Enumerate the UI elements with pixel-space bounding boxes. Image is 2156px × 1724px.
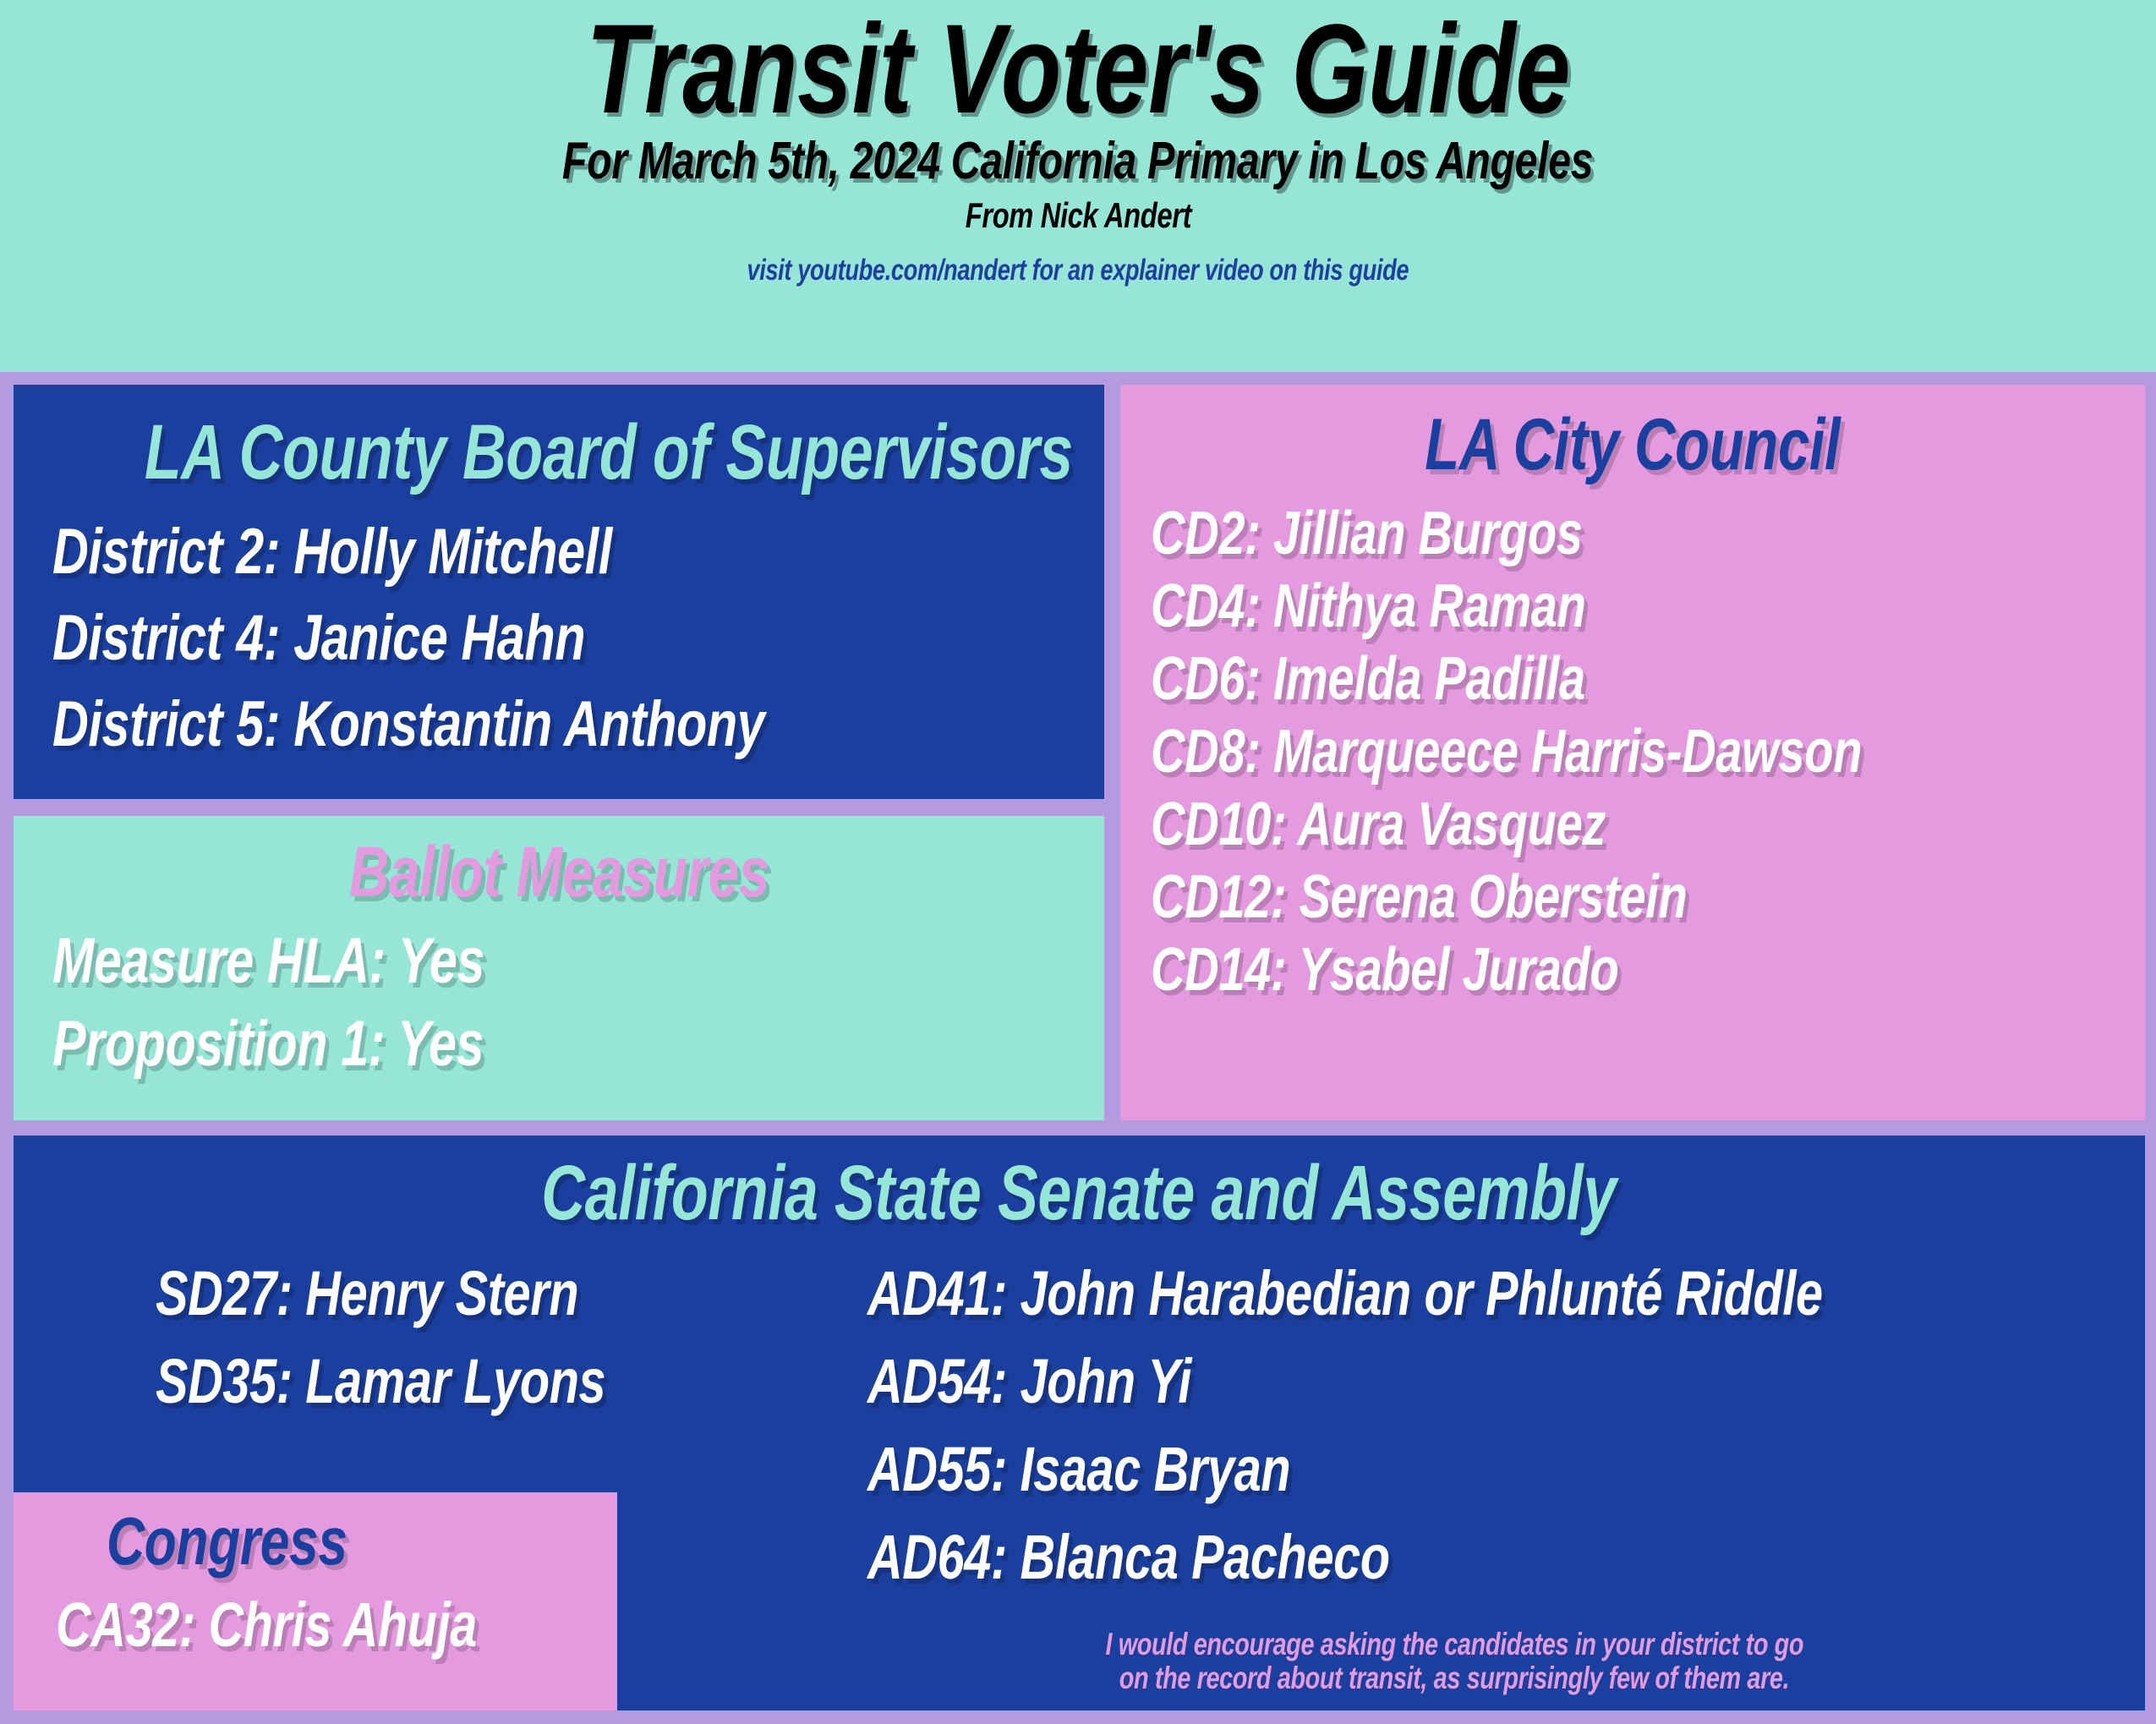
congress-list: CA32: Chris Ahuja [14,1575,617,1656]
page-subtitle-text: For March 5th, 2024 California Primary i… [562,135,1593,188]
supervisors-row-0: District 2: Holly Mitchell [52,520,612,584]
assembly-row-3: AD64: Blanca Pacheco [867,1526,1390,1589]
transit-note-line-1: I would encourage asking the candidates … [905,1628,2004,1661]
header-banner: Transit Voter's Guide For March 5th, 202… [0,0,2156,372]
voter-guide-infographic: Transit Voter's Guide For March 5th, 202… [0,0,2156,1724]
list-item: District 5: Konstantin Anthony [52,692,1104,757]
state-heading: California State Senate and Assembly [14,1136,2145,1232]
state-heading-text: California State Senate and Assembly [542,1154,1617,1232]
youtube-link[interactable]: visit youtube.com/nandert for an explain… [0,255,2156,285]
supervisors-heading: LA County Board of Supervisors [14,385,1104,491]
state-assembly-list: AD41: John Harabedian or Phlunté Riddle … [867,1262,2092,1614]
assembly-row-1: AD54: John Yi [867,1350,1191,1413]
list-item: AD41: John Harabedian or Phlunté Riddle [867,1262,2092,1325]
youtube-link-text: visit youtube.com/nandert for an explain… [747,255,1409,285]
ballot-measures-list: Measure HLA: Yes Proposition 1: Yes [14,907,1104,1076]
supervisors-row-2: District 5: Konstantin Anthony [52,692,764,757]
ballot-measures-heading: Ballot Measures [14,816,1104,907]
page-title: Transit Voter's Guide [0,5,2156,132]
assembly-row-0: AD41: John Harabedian or Phlunté Riddle [867,1262,1823,1325]
list-item: AD64: Blanca Pacheco [867,1526,2092,1589]
city-council-heading-text: LA City Council [1425,408,1840,481]
transit-note-line-1-text: I would encourage asking the candidates … [1105,1628,1803,1661]
list-item: District 2: Holly Mitchell [52,520,1104,584]
congress-heading: Congress [14,1492,617,1575]
city-council-list: CD2: Jillian Burgos CD4: Nithya Raman CD… [1120,481,2145,1000]
city-council-heading: LA City Council [1120,385,2145,481]
transit-note-line-2: on the record about transit, as surprisi… [905,1661,2004,1695]
supervisors-list: District 2: Holly Mitchell District 4: J… [14,491,1104,757]
council-row-4: CD10: Aura Vasquez [1151,794,1606,855]
ballot-measures-heading-text: Ballot Measures [349,836,769,907]
list-item: Proposition 1: Yes [52,1012,1104,1076]
list-item: CD10: Aura Vasquez [1151,794,2145,855]
list-item: SD27: Henry Stern [156,1262,732,1325]
list-item: AD55: Isaac Bryan [867,1438,2092,1501]
list-item: CD8: Marqueece Harris-Dawson [1151,721,2145,782]
transit-note-line-2-text: on the record about transit, as surprisi… [1119,1661,1789,1695]
author-byline: From Nick Andert [0,198,2156,233]
list-item: CD14: Ysabel Jurado [1151,939,2145,1000]
ballot-row-1: Proposition 1: Yes [52,1012,484,1076]
ballot-row-0: Measure HLA: Yes [52,929,484,993]
list-item: AD54: John Yi [867,1350,2092,1413]
list-item: CD2: Jillian Burgos [1151,503,2145,564]
list-item: Measure HLA: Yes [52,929,1104,993]
senate-row-1: SD35: Lamar Lyons [156,1350,605,1413]
congress-heading-text: Congress [107,1508,347,1575]
supervisors-heading-text: LA County Board of Supervisors [145,413,1073,491]
list-item: SD35: Lamar Lyons [156,1350,732,1413]
senate-row-0: SD27: Henry Stern [156,1262,578,1325]
council-row-2: CD6: Imelda Padilla [1151,649,1585,709]
list-item: CD4: Nithya Raman [1151,576,2145,637]
section-congress: Congress CA32: Chris Ahuja [14,1492,617,1710]
council-row-6: CD14: Ysabel Jurado [1151,939,1618,1000]
congress-row-0: CA32: Chris Ahuja [56,1594,477,1656]
author-byline-text: From Nick Andert [965,198,1190,233]
state-senate-list: SD27: Henry Stern SD35: Lamar Lyons [156,1262,732,1438]
supervisors-row-1: District 4: Janice Hahn [52,606,585,670]
list-item: CD12: Serena Oberstein [1151,867,2145,928]
list-item: CA32: Chris Ahuja [56,1594,617,1656]
council-row-3: CD8: Marqueece Harris-Dawson [1151,721,1862,782]
council-row-1: CD4: Nithya Raman [1151,576,1586,637]
page-subtitle: For March 5th, 2024 California Primary i… [0,135,2156,188]
list-item: CD6: Imelda Padilla [1151,649,2145,709]
page-title-text: Transit Voter's Guide [586,5,1570,132]
list-item: District 4: Janice Hahn [52,606,1104,670]
assembly-row-2: AD55: Isaac Bryan [867,1438,1290,1501]
council-row-5: CD12: Serena Oberstein [1151,867,1687,928]
section-city-council: LA City Council CD2: Jillian Burgos CD4:… [1120,385,2145,1120]
section-supervisors: LA County Board of Supervisors District … [14,385,1104,799]
council-row-0: CD2: Jillian Burgos [1151,503,1583,564]
transit-note: I would encourage asking the candidates … [905,1628,2004,1695]
section-ballot-measures: Ballot Measures Measure HLA: Yes Proposi… [14,816,1104,1120]
